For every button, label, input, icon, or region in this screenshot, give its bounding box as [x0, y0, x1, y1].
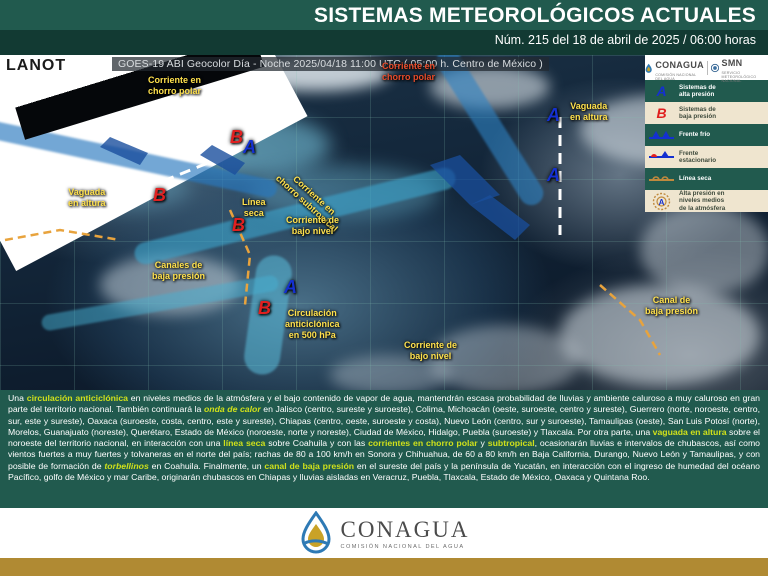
pressure-marker-a-4: A	[284, 277, 297, 298]
legend-item-frente-frio: Frente frío	[645, 124, 768, 146]
legend-brand-conagua: CONAGUA	[655, 60, 704, 70]
stationary-front-icon	[648, 151, 675, 163]
legend-item-baja-presion: B Sistemas debaja presión	[645, 102, 768, 124]
pressure-marker-b-2: B	[230, 127, 243, 148]
lanot-label: LANOT	[6, 57, 66, 75]
legend-label-alta-presion: Sistemas dealta presión	[679, 84, 716, 99]
page-header: SISTEMAS METEOROLÓGICOS ACTUALES Núm. 21…	[0, 0, 768, 55]
conagua-logo-icon	[299, 511, 333, 555]
map-label-corriente-bajo-nivel-2: Corriente debajo nivel	[404, 340, 457, 362]
legend-label-alta-presion-media: Alta presión enniveles mediosde la atmós…	[679, 190, 725, 212]
pressure-marker-a-1: A	[243, 137, 256, 158]
legend-panel: CONAGUA COMISIÓN NACIONAL DEL AGUA SMN S…	[645, 55, 768, 212]
legend-item-alta-presion-media: A Alta presión enniveles mediosde la atm…	[645, 190, 768, 212]
legend-item-linea-seca: Línea seca	[645, 168, 768, 190]
map-label-linea-seca: Líneaseca	[242, 197, 266, 219]
legend-label-frente-frio: Frente frío	[679, 131, 710, 138]
map-label-corriente-chorro-polar-nw: Corriente enchorro polar	[148, 75, 201, 97]
high-pressure-a-icon: A	[648, 83, 675, 99]
page-title: SISTEMAS METEOROLÓGICOS ACTUALES	[314, 4, 756, 28]
map-label-corriente-chorro-polar-ne: Corriente enchorro polar	[382, 61, 435, 83]
legend-label-linea-seca: Línea seca	[679, 175, 711, 182]
legend-brand-divider	[707, 61, 708, 75]
legend-brand-conagua-sub: COMISIÓN NACIONAL DEL AGUA	[655, 73, 704, 81]
footer-accent-bar	[0, 558, 768, 576]
map-label-vaguada-altura-este: Vaguadaen altura	[570, 101, 608, 123]
forecast-paragraph: Una circulación anticiclónica en niveles…	[8, 393, 760, 483]
pressure-marker-b-4: B	[258, 298, 271, 319]
mid-level-high-icon: A	[648, 192, 675, 211]
low-pressure-b-icon: B	[648, 105, 675, 121]
pressure-marker-b-3: B	[232, 215, 245, 236]
conagua-drop-icon	[645, 60, 652, 76]
legend-label-baja-presion: Sistemas debaja presión	[679, 106, 716, 121]
pressure-marker-a-3: A	[547, 165, 560, 186]
pressure-marker-b-1: B	[153, 185, 166, 206]
legend-item-alta-presion: A Sistemas dealta presión	[645, 80, 768, 102]
bulletin-number-date: Núm. 215 del 18 de abril de 2025 / 06:00…	[495, 33, 756, 47]
legend-item-frente-estacionario: Frenteestacionario	[645, 146, 768, 168]
svg-text:A: A	[659, 198, 665, 207]
legend-brand-smn-sub: SERVICIO METEOROLÓGICO NACIONAL	[722, 71, 768, 83]
forecast-text-block: Una circulación anticiclónica en niveles…	[0, 390, 768, 508]
smn-seal-icon	[711, 61, 719, 75]
page-footer: CONAGUA COMISIÓN NACIONAL DEL AGUA	[0, 508, 768, 576]
footer-brand: CONAGUA COMISIÓN NACIONAL DEL AGUA	[0, 508, 768, 558]
satellite-timestamp: GOES-19 ABI Geocolor Día - Noche 2025/04…	[112, 57, 549, 71]
pressure-marker-a-2: A	[547, 105, 560, 126]
map-label-corriente-bajo-nivel-1: Corriente debajo nivel	[286, 215, 339, 237]
cold-front-icon	[648, 130, 675, 141]
weather-bulletin-page: SISTEMAS METEOROLÓGICOS ACTUALES Núm. 21…	[0, 0, 768, 576]
legend-brand-bar: CONAGUA COMISIÓN NACIONAL DEL AGUA SMN S…	[645, 55, 768, 80]
lanot-watermark: LANOT	[6, 57, 66, 75]
map-label-circulacion-anticiclonica: Circulaciónanticiclónicaen 500 hPa	[285, 308, 340, 341]
map-label-canal-baja-presion: Canal debaja presión	[645, 295, 698, 317]
footer-brand-subtitle: COMISIÓN NACIONAL DEL AGUA	[341, 544, 470, 550]
legend-brand-smn: SMN	[722, 58, 743, 68]
dry-line-icon	[648, 174, 675, 184]
footer-brand-name: CONAGUA	[341, 517, 470, 542]
legend-label-frente-estacionario: Frenteestacionario	[679, 150, 716, 165]
map-label-vaguada-altura-oeste: Vaguadaen altura	[68, 187, 106, 209]
map-label-canales-baja-presion: Canales debaja presión	[152, 260, 205, 282]
